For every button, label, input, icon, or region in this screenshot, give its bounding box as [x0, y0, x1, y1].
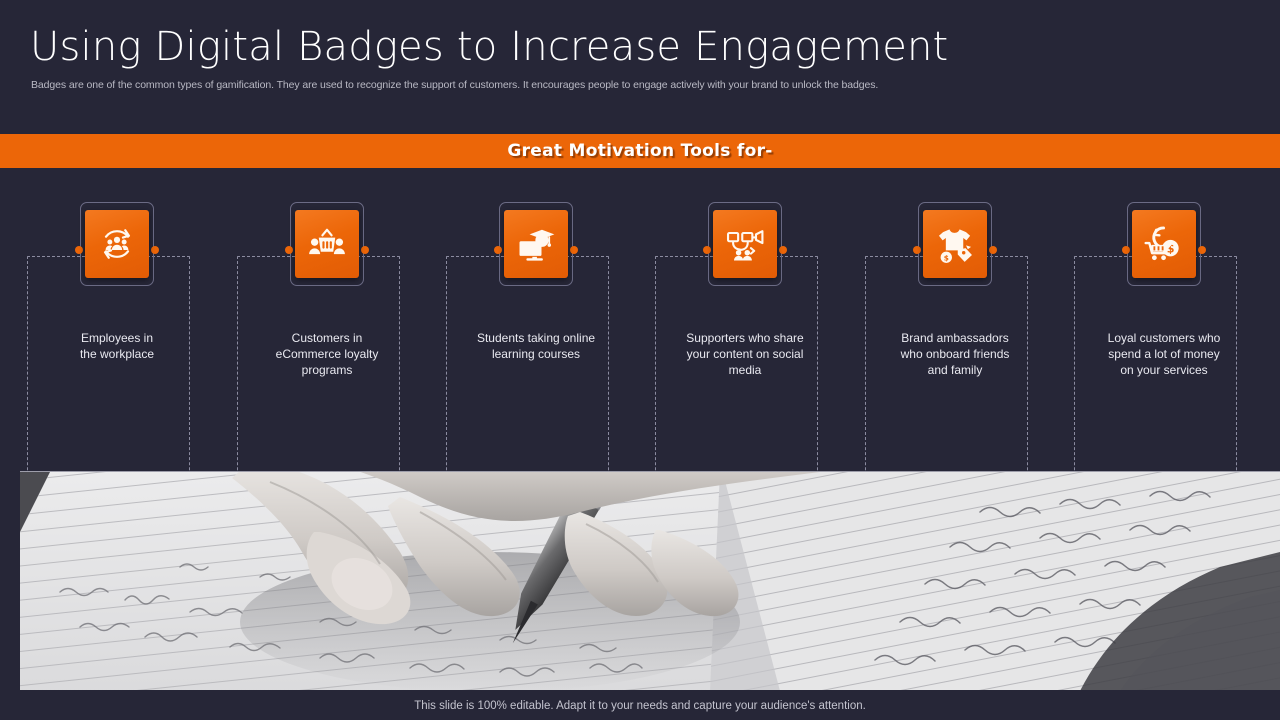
slide-header: Using Digital Badges to Increase Engagem… — [0, 0, 1280, 130]
connector-dot-right — [1198, 246, 1206, 254]
badge-caption: Brand ambassadorswho onboard friendsand … — [875, 330, 1035, 378]
page-title: Using Digital Badges to Increase Engagem… — [30, 24, 948, 70]
hand-writing-in-notebook-photo — [20, 471, 1280, 690]
connector-dot-left — [285, 246, 293, 254]
badge-caption: Customers ineCommerce loyaltyprograms — [247, 330, 407, 378]
connector-dot-left — [703, 246, 711, 254]
slide-subtitle: Badges are one of the common types of ga… — [31, 78, 1231, 92]
connector-dot-right — [779, 246, 787, 254]
tshirt-price-tag-icon[interactable]: $ — [923, 210, 987, 278]
badge-column-2[interactable]: Customers ineCommerce loyaltyprograms — [222, 168, 432, 468]
social-share-icon[interactable] — [713, 210, 777, 278]
footer-note: This slide is 100% editable. Adapt it to… — [0, 700, 1280, 712]
shopping-cart-money-icon[interactable]: $ $ — [1132, 210, 1196, 278]
connector-dot-left — [913, 246, 921, 254]
badge-columns: Employees inthe workplace Customers ineC… — [0, 168, 1280, 468]
banner-title: Great Motivation Tools for- — [507, 141, 772, 161]
connector-dot-left — [494, 246, 502, 254]
team-cycle-icon[interactable] — [85, 210, 149, 278]
connector-dot-left — [75, 246, 83, 254]
badge-caption: Employees inthe workplace — [37, 330, 197, 362]
online-learning-icon[interactable] — [504, 210, 568, 278]
badge-column-4[interactable]: Supporters who shareyour content on soci… — [640, 168, 850, 468]
connector-dot-left — [1122, 246, 1130, 254]
svg-text:$: $ — [1160, 234, 1167, 245]
badge-column-5[interactable]: $ Brand ambassadorswho onboard friendsan… — [850, 168, 1060, 468]
badge-caption: Students taking onlinelearning courses — [456, 330, 616, 362]
connector-dot-right — [989, 246, 997, 254]
connector-dot-right — [570, 246, 578, 254]
section-banner: Great Motivation Tools for- — [0, 134, 1280, 168]
badge-caption: Loyal customers whospend a lot of moneyo… — [1084, 330, 1244, 378]
connector-dot-right — [151, 246, 159, 254]
shopping-basket-customers-icon[interactable] — [295, 210, 359, 278]
connector-dot-right — [361, 246, 369, 254]
badge-column-1[interactable]: Employees inthe workplace — [12, 168, 222, 468]
badge-caption: Supporters who shareyour content on soci… — [665, 330, 825, 378]
svg-text:$: $ — [944, 254, 949, 263]
badge-column-3[interactable]: Students taking onlinelearning courses — [431, 168, 641, 468]
badge-column-6[interactable]: $ $ Loyal customers whospend a lot of mo… — [1059, 168, 1269, 468]
